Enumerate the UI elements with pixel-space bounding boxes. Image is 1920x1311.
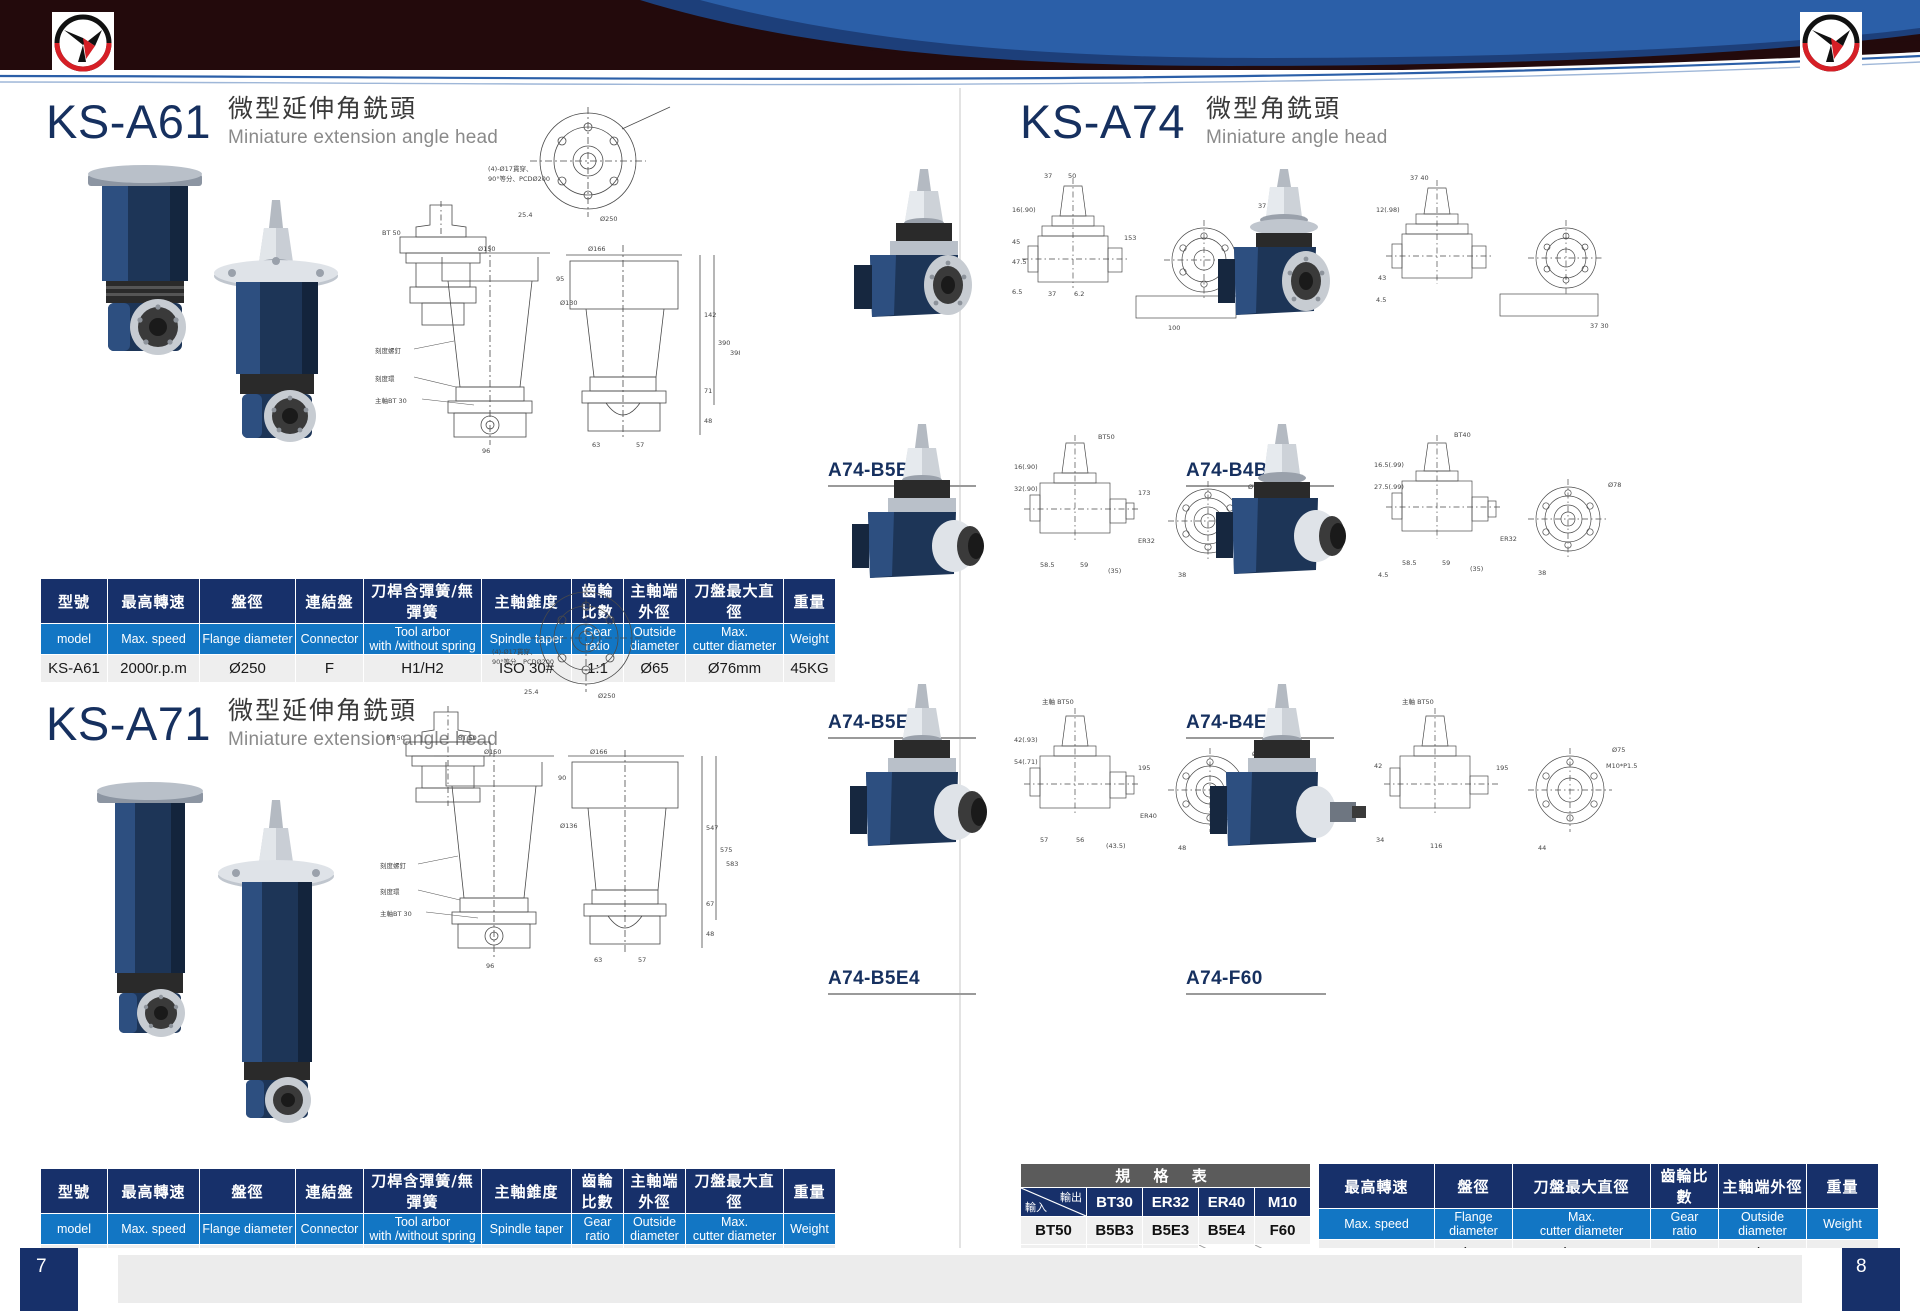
svg-text:主軸 BT50: 主軸 BT50 [1402, 697, 1434, 706]
svg-text:刻度螺釘: 刻度螺釘 [375, 346, 402, 355]
matrix-col-header-er32: ER32 [1143, 1188, 1199, 1217]
td-weight: 45KG [784, 655, 836, 683]
company-logo-icon [52, 12, 114, 74]
th-cn-max-speed: 最高轉速 [108, 1169, 200, 1214]
page-number-left-value: 7 [36, 1256, 47, 1278]
svg-text:59: 59 [1442, 559, 1450, 567]
svg-text:刻度環: 刻度環 [375, 374, 395, 383]
svg-text:43: 43 [1378, 274, 1386, 282]
svg-text:42: 42 [1374, 762, 1382, 770]
variant-photo-a74-f60 [1190, 680, 1370, 890]
company-logo-right [1800, 12, 1862, 74]
th-cn-flange-diameter: 盤徑 [200, 1169, 296, 1214]
page-number-left: 7 [20, 1248, 78, 1311]
th-cn-connector: 連結盤 [296, 579, 364, 624]
svg-text:96: 96 [486, 962, 494, 970]
variant-photo-a74-b4e3 [1190, 420, 1370, 620]
th-cn-weight: 重量 [784, 1169, 836, 1214]
matrix-col-header-m10: M10 [1255, 1188, 1311, 1217]
svg-text:37 30: 37 30 [1590, 322, 1609, 330]
svg-text:153: 153 [1124, 234, 1136, 242]
th-cn-model: 型號 [41, 579, 108, 624]
svg-text:主軸BT 30: 主軸BT 30 [375, 396, 407, 405]
svg-text:Ø75: Ø75 [1612, 746, 1625, 754]
svg-text:48: 48 [1178, 844, 1186, 852]
svg-text:90°等分、PCDØ200: 90°等分、PCDØ200 [492, 657, 554, 666]
th-en-gear-ratio: Gearratio [572, 1214, 624, 1245]
svg-text:(35): (35) [1470, 565, 1483, 573]
svg-text:398: 398 [730, 349, 740, 357]
matrix-corner-output-label: 輸出 [1060, 1189, 1082, 1205]
svg-text:M10*P1.5: M10*P1.5 [1606, 762, 1637, 770]
svg-text:95: 95 [556, 275, 564, 283]
product-name-en: Miniature angle head [1206, 127, 1387, 150]
matrix-corner-cell: 輸出 輸入 [1021, 1188, 1087, 1217]
th-en-flange-diameter: Flange diameter [200, 1214, 296, 1245]
th-cn-model: 型號 [41, 1169, 108, 1214]
th-cn-weight: 重量 [784, 579, 836, 624]
variant-photo-a74-b5e3 [830, 420, 1010, 620]
matrix-header-row: 輸出 輸入 BT30 ER32 ER40 M10 [1021, 1188, 1311, 1217]
product-title-ks-a74: KS-A74 [1020, 98, 1185, 145]
svg-text:67: 67 [706, 900, 714, 908]
th-en-weight: Weight [784, 1214, 836, 1245]
th-en-weight: Weight [1807, 1209, 1879, 1240]
svg-text:Ø136: Ø136 [560, 822, 578, 830]
svg-text:195: 195 [1496, 764, 1508, 772]
matrix-row-bt50: BT50 B5B3 B5E3 B5E4 F60 [1021, 1217, 1311, 1245]
svg-text:BT40: BT40 [1454, 431, 1471, 439]
th-en-max-cutter-diameter: Max.cutter diameter [1513, 1209, 1651, 1240]
svg-text:38: 38 [1538, 569, 1546, 577]
th-en-gear-ratio: Gearratio [1651, 1209, 1719, 1240]
variant-photo-a74-b4b3 [1190, 165, 1360, 355]
svg-text:57: 57 [636, 441, 644, 449]
svg-text:37 40: 37 40 [1410, 174, 1429, 182]
th-en-weight: Weight [784, 624, 836, 655]
page-number-right-value: 8 [1856, 1256, 1867, 1278]
svg-text:58.5: 58.5 [1402, 559, 1416, 567]
svg-text:刻度環: 刻度環 [380, 887, 400, 896]
svg-text:(4)-Ø17貫穿、: (4)-Ø17貫穿、 [488, 164, 532, 173]
product-name-cn: 微型角銑頭 [1206, 95, 1387, 124]
svg-text:96: 96 [482, 447, 490, 455]
svg-text:主軸 BT50: 主軸 BT50 [1042, 697, 1074, 706]
variant-label-a74-f60: A74-F60 [1186, 968, 1326, 995]
td-connector: F [296, 655, 364, 683]
svg-text:583: 583 [726, 860, 738, 868]
svg-text:Ø130: Ø130 [560, 299, 578, 307]
svg-text:ER32: ER32 [1138, 537, 1155, 545]
svg-text:57: 57 [638, 956, 646, 964]
svg-text:16(.90): 16(.90) [1012, 206, 1036, 214]
product-photo-ks-a61-angled [180, 190, 370, 480]
svg-text:16(.90): 16(.90) [1014, 463, 1038, 471]
matrix-cell-b5e4: B5E4 [1199, 1217, 1255, 1245]
catalog-page: KS-A61 微型延伸角銑頭 Miniature extension angle… [0, 0, 1920, 1311]
td-model: KS-A61 [41, 655, 108, 683]
svg-text:37: 37 [1048, 290, 1056, 298]
table-header-cn-row: 最高轉速 盤徑 刀盤最大直徑 齒輪比數 主軸端外徑 重量 [1319, 1164, 1879, 1209]
th-en-outside-diameter: Outsidediameter [1719, 1209, 1807, 1240]
th-cn-spindle-taper: 主軸錐度 [482, 1169, 572, 1214]
th-cn-outside-diameter: 主軸端外徑 [1719, 1164, 1807, 1209]
svg-text:(35): (35) [1108, 567, 1121, 575]
th-en-outside-diameter: Outsidediameter [624, 1214, 686, 1245]
svg-text:刻度螺釘: 刻度螺釘 [380, 861, 407, 870]
svg-text:32(.90): 32(.90) [1014, 485, 1038, 493]
td-flange-diameter: Ø250 [200, 655, 296, 683]
product-names-ks-a74: 微型角銑頭 Miniature angle head [1206, 95, 1387, 150]
th-cn-flange-diameter: 盤徑 [200, 579, 296, 624]
svg-text:ER32: ER32 [1500, 535, 1517, 543]
th-en-connector: Connector [296, 624, 364, 655]
th-cn-connector: 連結盤 [296, 1169, 364, 1214]
matrix-col-header-er40: ER40 [1199, 1188, 1255, 1217]
svg-text:58.5: 58.5 [1040, 561, 1054, 569]
svg-text:38: 38 [1178, 571, 1186, 579]
svg-text:12(.98): 12(.98) [1376, 206, 1400, 214]
svg-text:Ø166: Ø166 [588, 245, 606, 253]
svg-text:45: 45 [1012, 238, 1020, 246]
th-en-max-cutter-diameter: Max.cutter diameter [686, 1214, 784, 1245]
matrix-cell-b5b3: B5B3 [1087, 1217, 1143, 1245]
svg-text:195: 195 [1138, 764, 1150, 772]
svg-text:57: 57 [1040, 836, 1048, 844]
svg-text:100: 100 [1168, 324, 1180, 332]
th-en-model: model [41, 624, 108, 655]
th-cn-flange-diameter: 盤徑 [1435, 1164, 1513, 1209]
page-number-right: 8 [1842, 1248, 1900, 1311]
svg-text:6.5: 6.5 [1012, 288, 1022, 296]
svg-text:BT 50: BT 50 [386, 734, 405, 742]
product-title-ks-a61: KS-A61 [46, 98, 211, 145]
svg-text:25.4: 25.4 [518, 211, 532, 219]
top-banner [0, 0, 1920, 88]
th-en-max-speed: Max. speed [108, 1214, 200, 1245]
th-cn-max-cutter-diameter: 刀盤最大直徑 [686, 1169, 784, 1214]
variant-label-a74-b5e4: A74-B5E4 [828, 968, 976, 995]
td-max-speed: 2000r.p.m [108, 655, 200, 683]
matrix-title-row: 規 格 表 [1021, 1164, 1311, 1188]
svg-text:34: 34 [1376, 836, 1384, 844]
cad-drawing-a74-b4b3: 37 40 12(.98) 43 4.5 37 30 [1370, 168, 1660, 368]
cad-drawing-ks-a61: (4)-Ø17貫穿、 90°等分、PCDØ200 25.4 BT 50 [370, 105, 740, 465]
svg-text:42(.93): 42(.93) [1014, 736, 1038, 744]
company-logo-left [52, 12, 114, 74]
svg-text:BT 50: BT 50 [382, 229, 401, 237]
product-title-ks-a71: KS-A71 [46, 700, 211, 747]
svg-text:Ø78: Ø78 [1608, 481, 1621, 489]
th-cn-max-speed: 最高轉速 [1319, 1164, 1435, 1209]
th-cn-max-cutter-diameter: 刀盤最大直徑 [1513, 1164, 1651, 1209]
svg-text:(43.5): (43.5) [1106, 842, 1126, 850]
svg-text:575: 575 [720, 846, 732, 854]
svg-text:Ø250: Ø250 [598, 692, 616, 700]
svg-text:50: 50 [1068, 172, 1076, 180]
th-cn-tool-arbor: 刀桿含彈簧/無彈簧 [364, 1169, 482, 1214]
svg-text:48: 48 [706, 930, 714, 938]
th-en-tool-arbor: Tool arborwith /without spring [364, 1214, 482, 1245]
matrix-corner-input-label: 輸入 [1025, 1199, 1047, 1215]
banner-swoosh-graphic [0, 0, 1920, 88]
svg-text:173: 173 [1138, 489, 1150, 497]
table-header-en-row: Max. speed Flangediameter Max.cutter dia… [1319, 1209, 1879, 1240]
svg-text:56: 56 [1076, 836, 1084, 844]
table-header-cn-row: 型號 最高轉速 盤徑 連結盤 刀桿含彈簧/無彈簧 主軸錐度 齒輪比數 主軸端外徑… [41, 1169, 836, 1214]
svg-text:Ø150: Ø150 [484, 748, 502, 756]
th-en-flange-diameter: Flange diameter [200, 624, 296, 655]
table-header-en-row: model Max. speed Flange diameter Connect… [41, 1214, 836, 1245]
svg-text:71: 71 [704, 387, 712, 395]
matrix-cell-f60: F60 [1255, 1217, 1311, 1245]
svg-text:BT50: BT50 [1098, 433, 1115, 441]
svg-text:27.5(.99): 27.5(.99) [1374, 483, 1404, 491]
svg-text:6.2: 6.2 [1074, 290, 1084, 298]
svg-text:142: 142 [704, 311, 716, 319]
company-logo-icon [1800, 12, 1862, 74]
svg-text:90: 90 [558, 774, 566, 782]
svg-text:116: 116 [1430, 842, 1442, 850]
matrix-col-header-bt30: BT30 [1087, 1188, 1143, 1217]
th-en-model: model [41, 1214, 108, 1245]
svg-text:54(.71): 54(.71) [1014, 758, 1038, 766]
th-en-flange-diameter: Flangediameter [1435, 1209, 1513, 1240]
th-cn-weight: 重量 [1807, 1164, 1879, 1209]
svg-text:4.5: 4.5 [1376, 296, 1386, 304]
svg-text:48: 48 [704, 417, 712, 425]
cad-drawing-ks-a71: (4)-Ø17貫穿、 90°等分、PCDØ200 25.4 BT 50 BT 5… [378, 580, 738, 1000]
product-code: KS-A74 [1020, 98, 1185, 145]
matrix-title: 規 格 表 [1021, 1164, 1311, 1188]
th-en-max-speed: Max. speed [1319, 1209, 1435, 1240]
svg-text:Ø150: Ø150 [478, 245, 496, 253]
svg-text:ER40: ER40 [1140, 812, 1157, 820]
svg-text:63: 63 [592, 441, 600, 449]
svg-text:(4)-Ø17貫穿、: (4)-Ø17貫穿、 [492, 647, 536, 656]
variant-photo-a74-b5b3 [830, 165, 1000, 355]
svg-text:390: 390 [718, 339, 730, 347]
svg-text:4.5: 4.5 [1378, 571, 1388, 579]
cad-drawing-a74-f60: 主軸 BT50 42 195 M10*P1.5 116 44 34 Ø75 [1370, 690, 1660, 900]
svg-text:主軸BT 30: 主軸BT 30 [380, 909, 412, 918]
th-cn-gear-ratio: 齒輪比數 [572, 1169, 624, 1214]
svg-text:47.5: 47.5 [1012, 258, 1026, 266]
variant-photo-a74-b5e4 [830, 680, 1010, 890]
footer-grey-band [118, 1255, 1802, 1303]
svg-text:63: 63 [594, 956, 602, 964]
th-en-spindle-taper: Spindle taper [482, 1214, 572, 1245]
product-code: KS-A61 [46, 98, 211, 145]
svg-text:44: 44 [1538, 844, 1546, 852]
svg-text:25.4: 25.4 [524, 688, 538, 696]
matrix-row-label-bt50: BT50 [1021, 1217, 1087, 1245]
th-en-max-speed: Max. speed [108, 624, 200, 655]
th-cn-max-speed: 最高轉速 [108, 579, 200, 624]
svg-text:547: 547 [706, 824, 718, 832]
th-en-connector: Connector [296, 1214, 364, 1245]
svg-text:37: 37 [1044, 172, 1052, 180]
svg-text:90°等分、PCDØ200: 90°等分、PCDØ200 [488, 174, 550, 183]
th-cn-gear-ratio: 齒輪比數 [1651, 1164, 1719, 1209]
svg-text:BT 50: BT 50 [458, 734, 477, 742]
svg-text:Ø250: Ø250 [600, 215, 618, 223]
product-photo-ks-a71-angled [180, 790, 370, 1130]
product-code: KS-A71 [46, 700, 211, 747]
svg-text:16.5(.99): 16.5(.99) [1374, 461, 1404, 469]
svg-text:Ø166: Ø166 [590, 748, 608, 756]
th-cn-outside-diameter: 主軸端外徑 [624, 1169, 686, 1214]
matrix-cell-b5e3: B5E3 [1143, 1217, 1199, 1245]
cad-drawing-a74-b4e3: BT40 16.5(.99) 27.5(.99) ER32 58.5 59 (3… [1370, 425, 1660, 635]
svg-text:59: 59 [1080, 561, 1088, 569]
